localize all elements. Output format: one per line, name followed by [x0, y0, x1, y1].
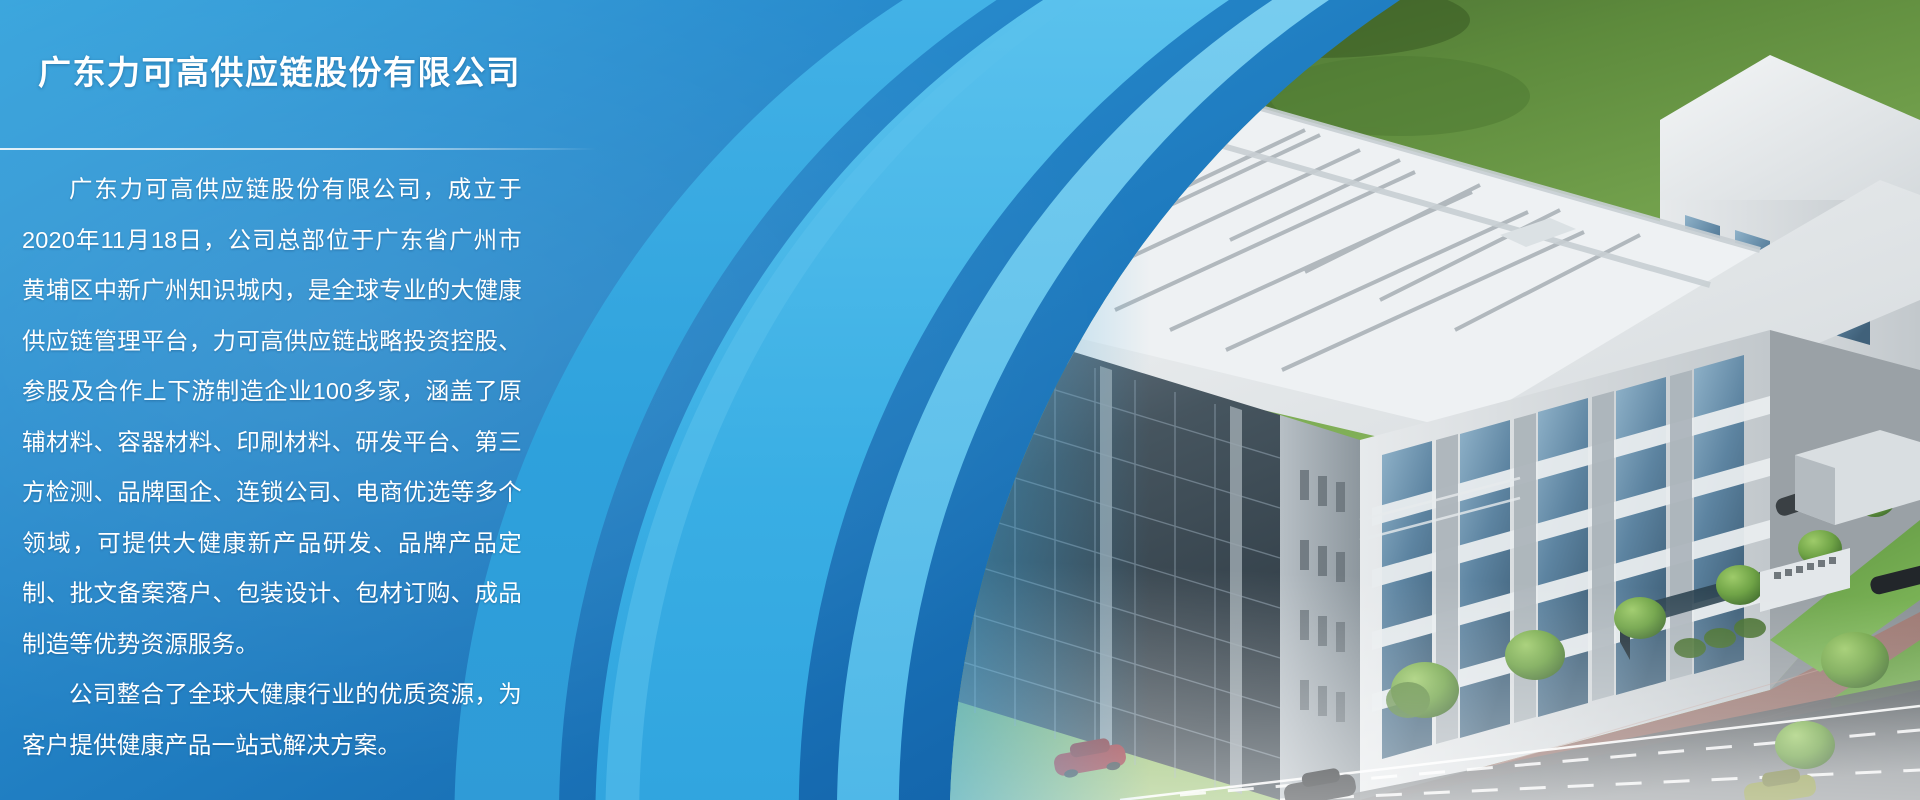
page-title: 广东力可高供应链股份有限公司	[38, 52, 558, 93]
company-intro: 广东力可高供应链股份有限公司，成立于2020年11月18日，公司总部位于广东省广…	[22, 164, 522, 770]
intro-text-column: 广东力可高供应链股份有限公司 广东力可高供应链股份有限公司，成立于2020年11…	[0, 0, 600, 800]
intro-paragraph-2: 公司整合了全球大健康行业的优质资源，为客户提供健康产品一站式解决方案。	[22, 669, 522, 770]
intro-paragraph-1: 广东力可高供应链股份有限公司，成立于2020年11月18日，公司总部位于广东省广…	[22, 164, 522, 669]
title-divider	[0, 148, 596, 150]
promo-banner: 广东力可高供应链股份有限公司 广东力可高供应链股份有限公司，成立于2020年11…	[0, 0, 1920, 800]
campus-rendering	[760, 0, 1920, 800]
campus-photo	[760, 0, 1920, 800]
